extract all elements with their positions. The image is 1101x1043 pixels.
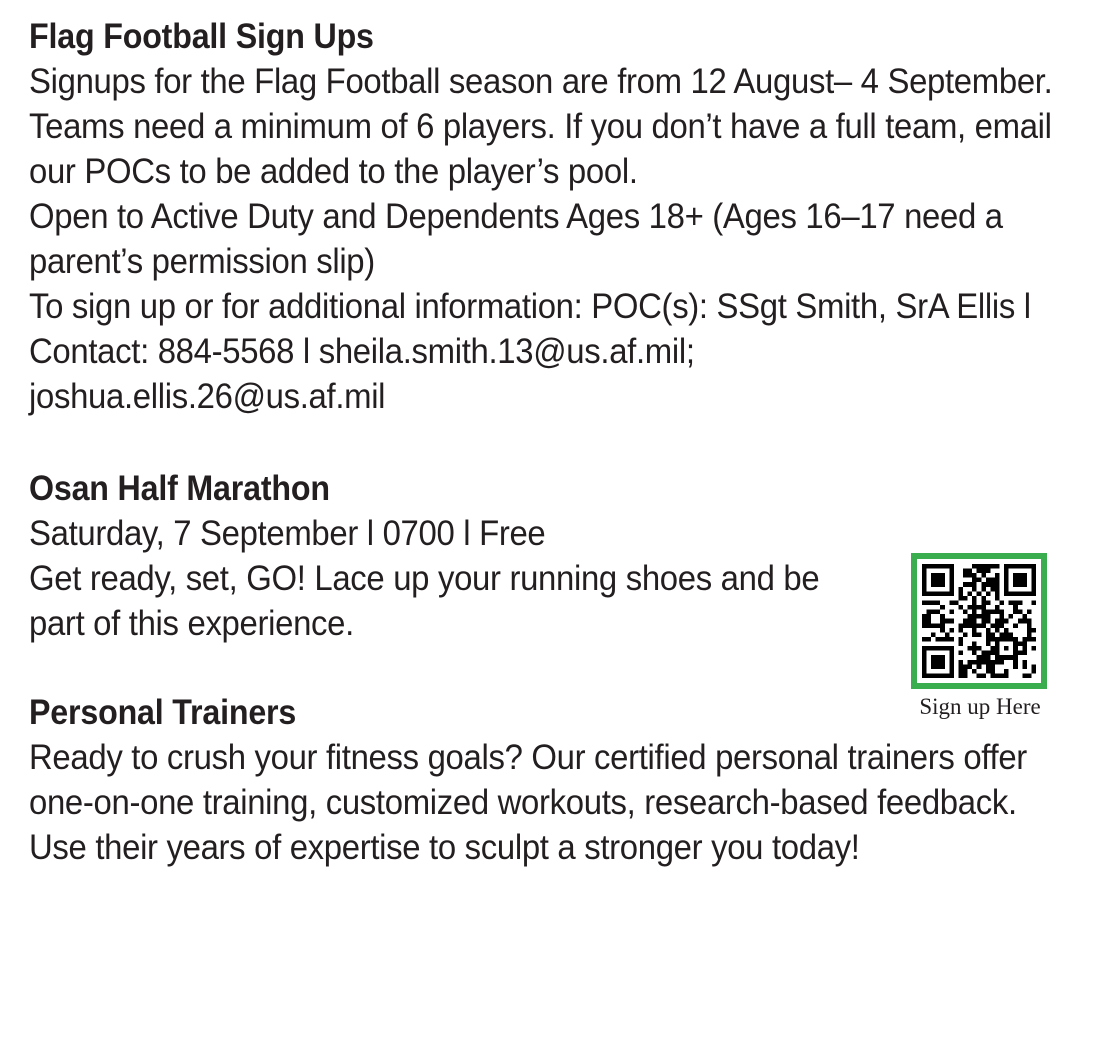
section-heading-osan-half-marathon: Osan Half Marathon [29, 466, 981, 511]
flag-football-paragraph-3: To sign up or for additional information… [29, 284, 1040, 419]
osan-half-marathon-paragraph-2: Get ready, set, GO! Lace up your running… [29, 556, 875, 646]
flyer-page: Flag Football Sign Ups Signups for the F… [0, 0, 1101, 1043]
section-spacer-1 [29, 419, 1064, 466]
qr-caption: Sign up Here [911, 693, 1049, 721]
qr-signup-block[interactable]: Sign up Here [911, 553, 1049, 721]
qr-code-frame[interactable] [911, 553, 1047, 689]
section-spacer-2 [29, 646, 1064, 690]
section-heading-flag-football: Flag Football Sign Ups [29, 14, 981, 59]
flag-football-paragraph-1: Signups for the Flag Football season are… [29, 59, 1054, 194]
qr-code-icon[interactable] [922, 564, 1036, 678]
section-osan-half-marathon: Osan Half Marathon Saturday, 7 September… [29, 466, 1064, 646]
flag-football-paragraph-2: Open to Active Duty and Dependents Ages … [29, 194, 1040, 284]
content-column: Flag Football Sign Ups Signups for the F… [29, 14, 1064, 870]
osan-half-marathon-paragraph-1: Saturday, 7 September l 0700 l Free [29, 511, 875, 556]
section-flag-football: Flag Football Sign Ups Signups for the F… [29, 14, 1064, 419]
section-personal-trainers: Personal Trainers Ready to crush your fi… [29, 690, 1064, 870]
personal-trainers-paragraph-1: Ready to crush your fitness goals? Our c… [29, 735, 1040, 870]
section-heading-personal-trainers: Personal Trainers [29, 690, 981, 735]
